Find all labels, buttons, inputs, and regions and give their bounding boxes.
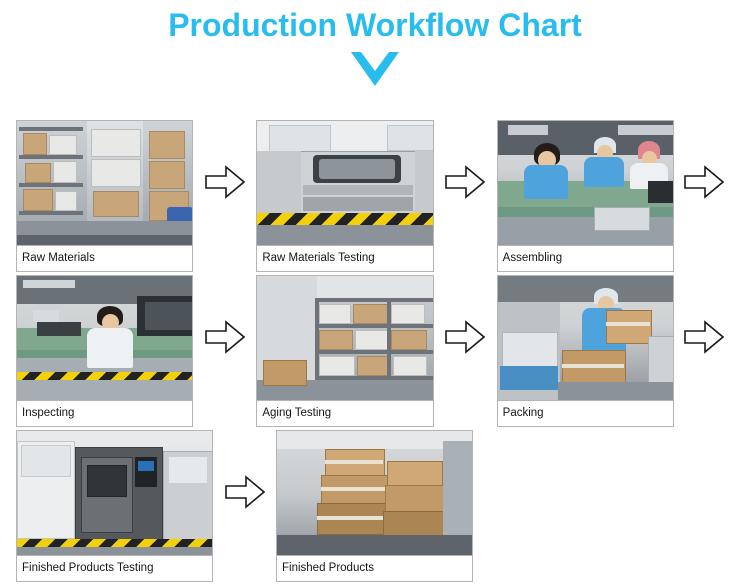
arrow-right-icon [205, 165, 245, 199]
workflow-row-2: Inspecting [16, 275, 734, 427]
workflow-row-3: Finished Products Testing [16, 430, 734, 582]
step-caption: Finished Products Testing [17, 555, 212, 581]
step-caption: Inspecting [17, 400, 192, 426]
step-arrow-5 [434, 275, 497, 399]
step-photo-finished-products [277, 431, 472, 555]
workflow-step-assembling[interactable]: Assembling [497, 120, 674, 272]
workflow-step-raw-materials-testing[interactable]: Raw Materials Testing [256, 120, 433, 272]
workflow-step-finished-products[interactable]: Finished Products [276, 430, 473, 582]
step-caption: Raw Materials [17, 245, 192, 271]
step-photo-raw-materials-testing [257, 121, 432, 245]
step-photo-packing [498, 276, 673, 400]
chevron-down-icon [349, 50, 401, 92]
arrow-right-icon [684, 320, 724, 354]
step-arrow-1 [193, 120, 256, 244]
step-arrow-3 [674, 120, 734, 244]
page-title: Production Workflow Chart [0, 0, 750, 46]
arrow-right-icon [684, 165, 724, 199]
step-photo-inspecting [17, 276, 192, 400]
step-arrow-7 [213, 430, 276, 554]
workflow-grid: Raw Materials [16, 120, 734, 585]
step-photo-raw-materials [17, 121, 192, 245]
step-photo-assembling [498, 121, 673, 245]
step-caption: Raw Materials Testing [257, 245, 432, 271]
arrow-right-icon [445, 165, 485, 199]
arrow-right-icon [205, 320, 245, 354]
workflow-step-inspecting[interactable]: Inspecting [16, 275, 193, 427]
step-arrow-2 [434, 120, 497, 244]
arrow-right-icon [225, 475, 265, 509]
workflow-row-1: Raw Materials [16, 120, 734, 272]
title-down-arrow-container [0, 46, 750, 96]
step-photo-finished-products-testing [17, 431, 212, 555]
step-arrow-4 [193, 275, 256, 399]
workflow-step-finished-products-testing[interactable]: Finished Products Testing [16, 430, 213, 582]
workflow-step-raw-materials[interactable]: Raw Materials [16, 120, 193, 272]
workflow-step-aging-testing[interactable]: Aging Testing [256, 275, 433, 427]
step-caption: Assembling [498, 245, 673, 271]
step-arrow-6 [674, 275, 734, 399]
step-photo-aging-testing [257, 276, 432, 400]
workflow-step-packing[interactable]: Packing [497, 275, 674, 427]
step-caption: Aging Testing [257, 400, 432, 426]
arrow-right-icon [445, 320, 485, 354]
step-caption: Finished Products [277, 555, 472, 581]
step-caption: Packing [498, 400, 673, 426]
